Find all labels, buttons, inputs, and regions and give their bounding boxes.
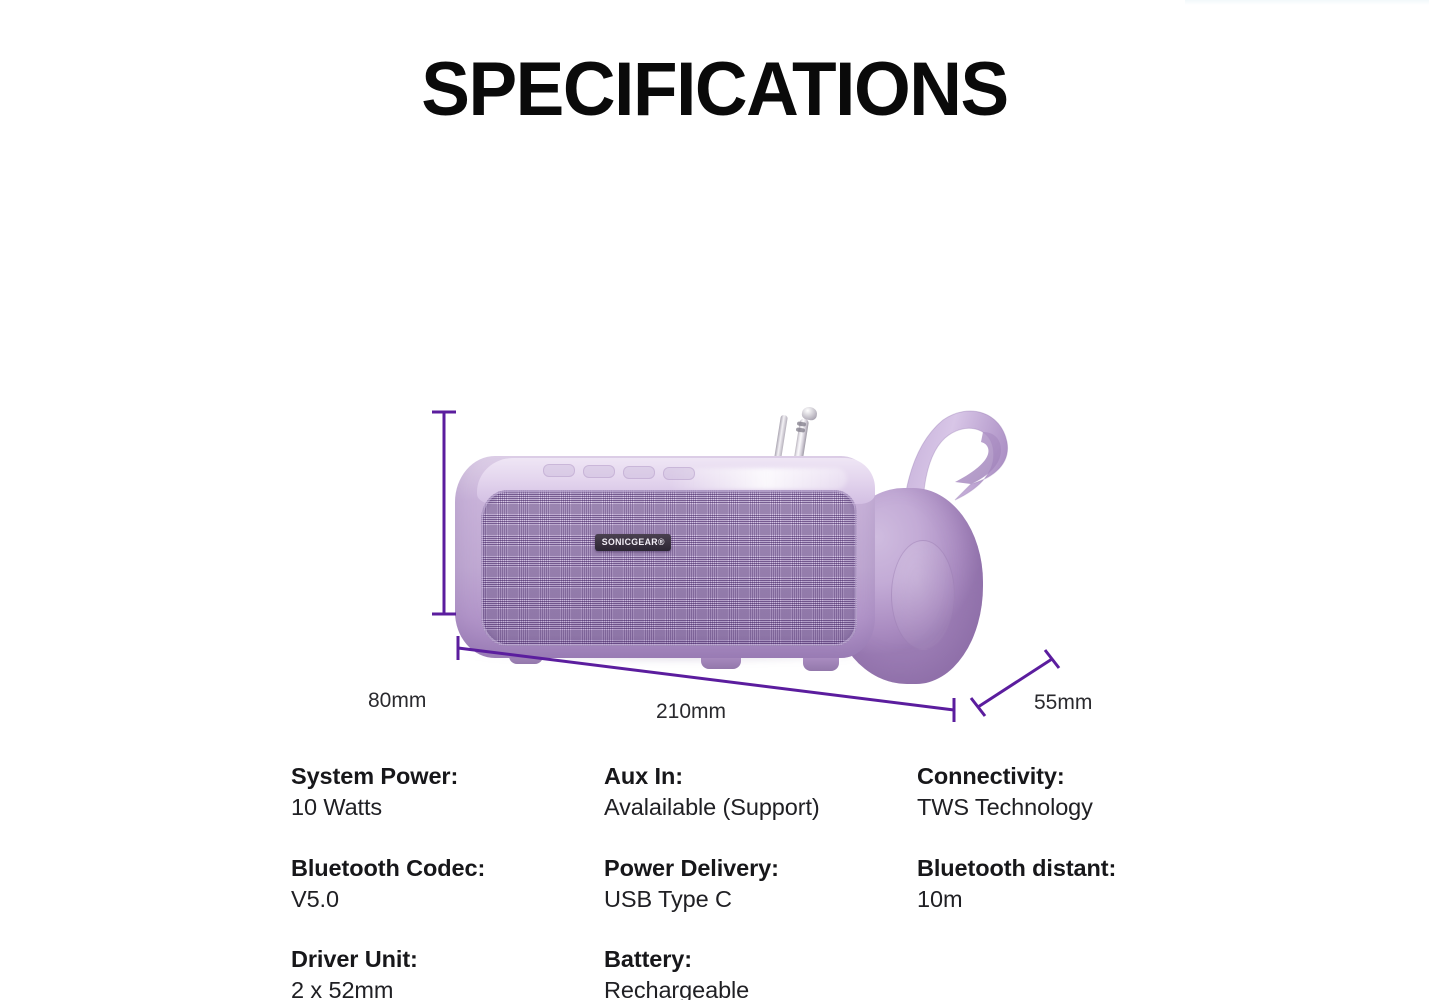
product-figure: 80mm 210mm 55mm	[340, 170, 1160, 740]
spec-value: 10 Watts	[291, 792, 604, 823]
spec-item-aux-in: Aux In: Avalailable (Support)	[604, 761, 917, 824]
spec-item-power-delivery: Power Delivery: USB Type C	[604, 853, 917, 916]
spec-value: Avalailable (Support)	[604, 792, 917, 823]
dim-depth-cap-far	[1045, 650, 1059, 668]
spec-row: System Power: 10 Watts Aux In: Avalailab…	[291, 761, 1391, 824]
dim-depth-cap-near	[971, 698, 985, 716]
spec-label: Aux In:	[604, 761, 917, 792]
spec-label: Bluetooth distant:	[917, 853, 1277, 884]
spec-value: Rechargeable	[604, 975, 917, 1000]
spec-label: Battery:	[604, 944, 917, 975]
spec-item-connectivity: Connectivity: TWS Technology	[917, 761, 1277, 824]
spec-item-bluetooth-distant: Bluetooth distant: 10m	[917, 853, 1277, 916]
spec-value: V5.0	[291, 884, 604, 915]
spec-item-driver-unit: Driver Unit: 2 x 52mm	[291, 944, 604, 1000]
spec-row: Bluetooth Codec: V5.0 Power Delivery: US…	[291, 853, 1391, 916]
dimension-label-depth: 55mm	[1034, 691, 1092, 715]
spec-label: Driver Unit:	[291, 944, 604, 975]
dimension-lines	[340, 170, 1160, 740]
dimension-label-height: 80mm	[368, 689, 426, 713]
page-title: SPECIFICATIONS	[29, 52, 1401, 128]
spec-item-battery: Battery: Rechargeable	[604, 944, 917, 1000]
spec-label: Power Delivery:	[604, 853, 917, 884]
spec-label: System Power:	[291, 761, 604, 792]
spec-label: Bluetooth Codec:	[291, 853, 604, 884]
spec-label: Connectivity:	[917, 761, 1277, 792]
specifications-page: SPECIFICATIONS 80mm 210mm 55mm	[0, 0, 1429, 1000]
spec-item-system-power: System Power: 10 Watts	[291, 761, 604, 824]
top-edge-tint	[1185, 0, 1429, 5]
dimension-label-width: 210mm	[656, 700, 726, 724]
spec-value: TWS Technology	[917, 792, 1277, 823]
specifications-grid: System Power: 10 Watts Aux In: Avalailab…	[291, 761, 1391, 1000]
spec-row: Driver Unit: 2 x 52mm Battery: Rechargea…	[291, 944, 1391, 1000]
spec-value: USB Type C	[604, 884, 917, 915]
spec-value: 10m	[917, 884, 1277, 915]
spec-value: 2 x 52mm	[291, 975, 604, 1000]
spec-item-bluetooth-codec: Bluetooth Codec: V5.0	[291, 853, 604, 916]
